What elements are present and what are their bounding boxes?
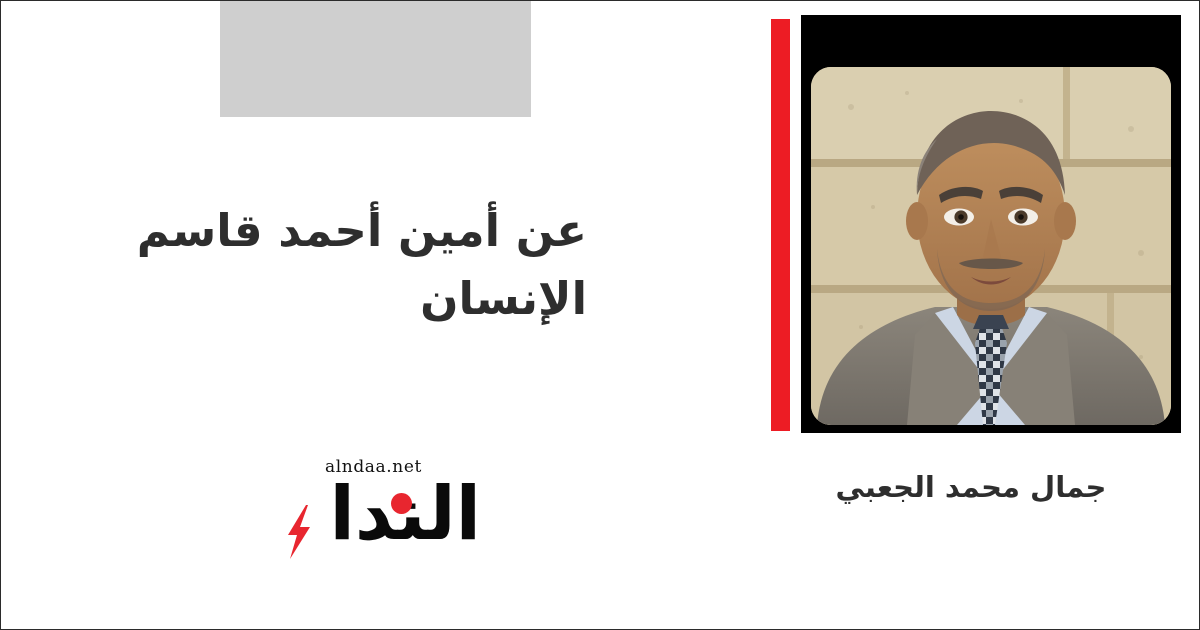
logo-domain-text: alndaa.net — [325, 457, 422, 477]
article-share-card: عن أمين أحمد قاسم الإنسان الندا alndaa.n… — [0, 0, 1200, 630]
portrait-illustration — [811, 67, 1171, 425]
accent-bar — [771, 19, 790, 431]
site-logo[interactable]: الندا alndaa.net — [281, 453, 481, 563]
author-portrait — [811, 67, 1171, 425]
photo-frame — [801, 15, 1181, 433]
placeholder-block — [220, 1, 531, 117]
logo-wordmark: الندا — [301, 481, 481, 547]
author-byline: جمال محمد الجعبي — [761, 469, 1181, 507]
page-title: عن أمين أحمد قاسم الإنسان — [121, 197, 587, 334]
logo-dot-icon — [391, 493, 412, 514]
lightning-bolt-icon — [284, 505, 314, 559]
